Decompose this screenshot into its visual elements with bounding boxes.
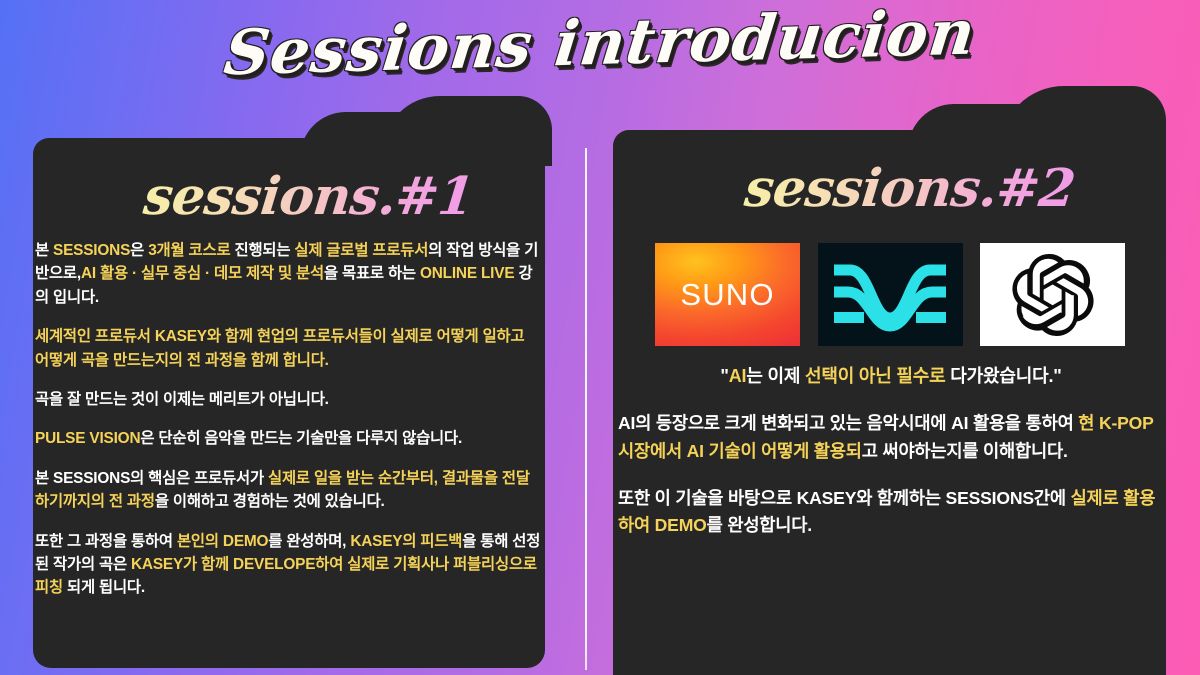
page-title-container: Sessions introducion xyxy=(0,6,1200,79)
session-2-body: "AI는 이제 선택이 아닌 필수로 다가왔습니다."AI의 등장으로 크게 변… xyxy=(618,362,1164,560)
body-text: 되게 됩니다. xyxy=(63,579,145,596)
highlighted-text: 본인의 DEMO xyxy=(177,533,268,550)
body-text: 고 써야하는지를 이해합니다. xyxy=(862,441,1068,461)
body-text: 본 xyxy=(35,242,53,259)
body-text: 을 이해하고 경험하는 것에 있습니다. xyxy=(155,493,385,510)
body-text: SESSIONS xyxy=(53,470,130,487)
page-title: Sessions introducion xyxy=(221,0,980,89)
paragraph: 본 SESSIONS은 3개월 코스로 진행되는 실제 글로벌 프로듀서의 작업… xyxy=(35,239,541,309)
session-1-body: 본 SESSIONS은 3개월 코스로 진행되는 실제 글로벌 프로듀서의 작업… xyxy=(35,239,541,600)
highlighted-text: SESSIONS xyxy=(53,242,130,259)
body-text: AI의 등장으로 크게 변화되고 있는 음악시대에 AI 활용을 통하여 xyxy=(618,413,1078,433)
highlighted-text: 선택이 아닌 필수로 xyxy=(805,366,945,386)
body-text: 곡을 잘 만드는 것이 이제는 메리트가 아닙니다. xyxy=(35,391,329,408)
suno-logo-label: SUNO xyxy=(680,277,774,313)
body-text: 을 목표로 하는 xyxy=(324,265,420,282)
suno-logo: SUNO xyxy=(655,243,800,346)
body-text: 또한 이 기술을 바탕으로 KASEY와 함께하는 SESSIONS간에 xyxy=(618,488,1071,508)
highlighted-text: PULSE VISION xyxy=(35,430,140,447)
highlighted-text: ONLINE LIVE xyxy=(420,265,514,282)
paragraph: 또한 이 기술을 바탕으로 KASEY와 함께하는 SESSIONS간에 실제로… xyxy=(618,485,1164,540)
openai-logo xyxy=(980,243,1125,346)
paragraph: 세계적인 프로듀서 KASEY와 함께 현업의 프로듀서들이 실제로 어떻게 일… xyxy=(35,325,541,372)
body-text: 를 완성하며, xyxy=(268,533,350,550)
paragraph: AI의 등장으로 크게 변화되고 있는 음악시대에 AI 활용을 통하여 현 K… xyxy=(618,410,1164,465)
session-1-heading: sessions.#1 xyxy=(141,166,477,227)
pull-quote: "AI는 이제 선택이 아닌 필수로 다가왔습니다." xyxy=(618,362,1164,390)
body-text: " xyxy=(720,366,728,386)
highlighted-text: 세계적인 프로듀서 KASEY와 함께 현업의 프로듀서들이 실제로 어떻게 일… xyxy=(35,328,524,368)
udio-logo xyxy=(818,243,963,346)
body-text: 또한 그 과정을 통하여 xyxy=(35,533,177,550)
body-text: 의 핵심은 프로듀서가 xyxy=(130,470,268,487)
slide-canvas: Sessions introducion sessions.#1 본 SESSI… xyxy=(0,0,1200,675)
paragraph: 또한 그 과정을 통하여 본인의 DEMO를 완성하며, KASEY의 피드백을… xyxy=(35,530,541,600)
panel-divider xyxy=(585,148,587,670)
highlighted-text: 실제 글로벌 프로듀서 xyxy=(294,242,428,259)
body-text: 은 단순히 음악을 만드는 기술만을 다루지 않습니다. xyxy=(140,430,462,447)
highlighted-text: AI xyxy=(729,366,747,386)
body-text: 진행되는 xyxy=(230,242,294,259)
ai-tool-logo-row: SUNO xyxy=(655,243,1125,346)
body-text: 를 완성합니다. xyxy=(707,515,812,535)
body-text: 은 xyxy=(130,242,148,259)
paragraph: 곡을 잘 만드는 것이 이제는 메리트가 아닙니다. xyxy=(35,388,541,411)
highlighted-text: AI 활용 · 실무 중심 · 데모 제작 및 분석 xyxy=(81,265,324,282)
session-2-heading: sessions.#2 xyxy=(742,158,1078,219)
body-text: 본 xyxy=(35,470,53,487)
body-text: 다가왔습니다." xyxy=(946,366,1062,386)
body-text: 는 이제 xyxy=(746,366,805,386)
highlighted-text: KASEY의 피드백 xyxy=(350,533,462,550)
paragraph: 본 SESSIONS의 핵심은 프로듀서가 실제로 일을 받는 순간부터, 결과… xyxy=(35,467,541,514)
highlighted-text: 3개월 코스로 xyxy=(148,242,230,259)
paragraph: PULSE VISION은 단순히 음악을 만드는 기술만을 다루지 않습니다. xyxy=(35,427,541,450)
